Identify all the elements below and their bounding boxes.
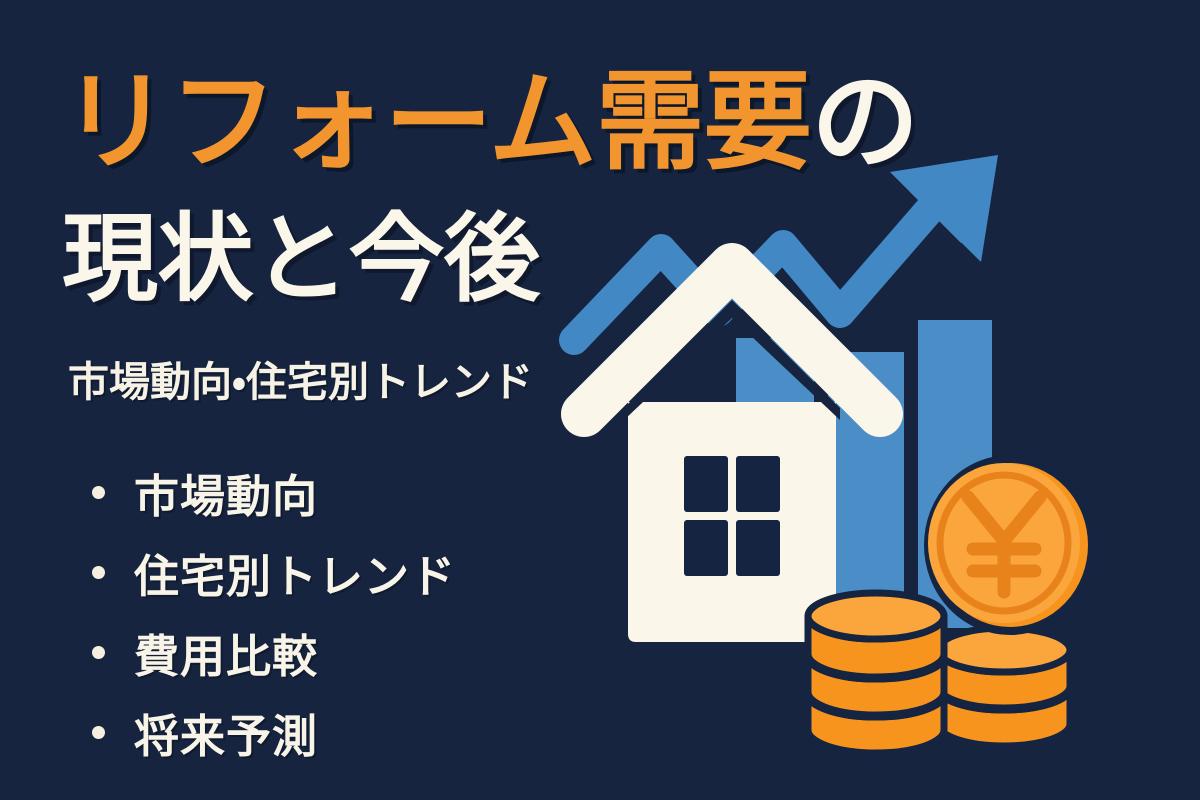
- coin-stack-icon-right: [938, 628, 1070, 746]
- bullet-label: 市場動向: [134, 460, 318, 525]
- slide-canvas: リフォーム需要の 現状と今後 市場動向・住宅別トレンド 市場動向 住宅別トレンド…: [0, 0, 1200, 800]
- bullet-label: 費用比較: [134, 620, 318, 685]
- window-pane-top-right: [736, 456, 780, 512]
- house-growth-chart-coins-illustration: [540, 0, 1200, 800]
- bullet-label: 住宅別トレンド: [134, 540, 456, 605]
- bullet-list: 市場動向 住宅別トレンド 費用比較 将来予測: [86, 452, 456, 772]
- window-pane-bottom-left: [684, 520, 728, 576]
- house-body: [628, 402, 836, 642]
- coin-stack-icon-left: [808, 593, 944, 753]
- window-pane-bottom-right: [736, 520, 780, 576]
- list-item: 費用比較: [86, 612, 456, 692]
- page-subtitle: 市場動向・住宅別トレンド: [68, 348, 533, 408]
- bullet-dot-icon: [92, 726, 105, 739]
- bullet-dot-icon: [92, 566, 105, 579]
- bullet-dot-icon: [92, 646, 105, 659]
- list-item: 住宅別トレンド: [86, 532, 456, 612]
- list-item: 将来予測: [86, 692, 456, 772]
- window-pane-top-left: [684, 456, 728, 512]
- yen-coin-icon: [928, 459, 1092, 631]
- page-title-line-2: 現状と今後: [62, 212, 540, 308]
- bullet-label: 将来予測: [134, 700, 318, 765]
- list-item: 市場動向: [86, 452, 456, 532]
- bullet-dot-icon: [92, 486, 105, 499]
